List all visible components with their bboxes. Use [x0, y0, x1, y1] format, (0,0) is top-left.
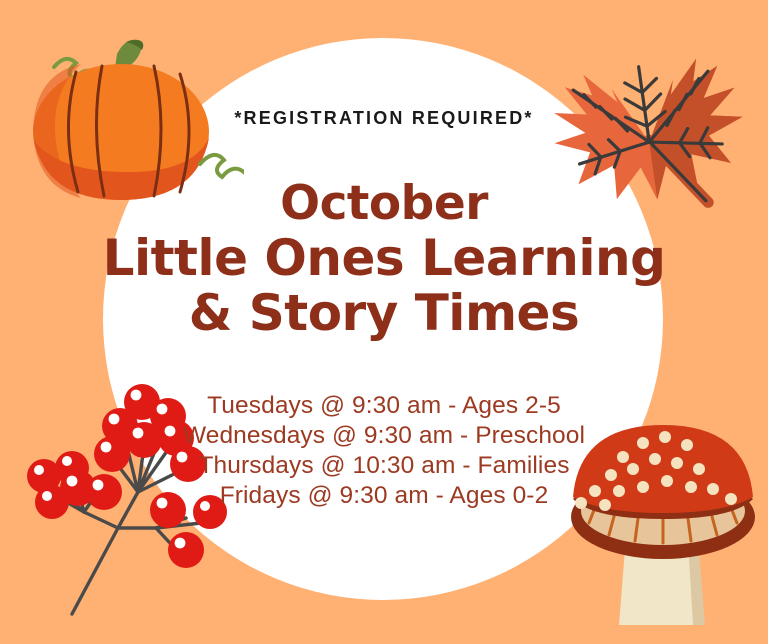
headline-line-story-times: & Story Times — [0, 286, 768, 341]
headline-line-month: October — [0, 176, 768, 231]
schedule-list: Tuesdays @ 9:30 am - Ages 2-5 Wednesdays… — [0, 391, 768, 511]
page-title: October Little Ones Learning & Story Tim… — [0, 176, 768, 341]
poster-canvas: *REGISTRATION REQUIRED* October Little O… — [0, 0, 768, 644]
schedule-item-friday: Fridays @ 9:30 am - Ages 0-2 — [0, 481, 768, 511]
schedule-item-wednesday: Wednesdays @ 9:30 am - Preschool — [0, 421, 768, 451]
headline-line-program: Little Ones Learning — [0, 231, 768, 286]
schedule-item-thursday: Thursdays @ 10:30 am - Families — [0, 451, 768, 481]
schedule-item-tuesday: Tuesdays @ 9:30 am - Ages 2-5 — [0, 391, 768, 421]
registration-required-note: *REGISTRATION REQUIRED* — [0, 108, 768, 129]
